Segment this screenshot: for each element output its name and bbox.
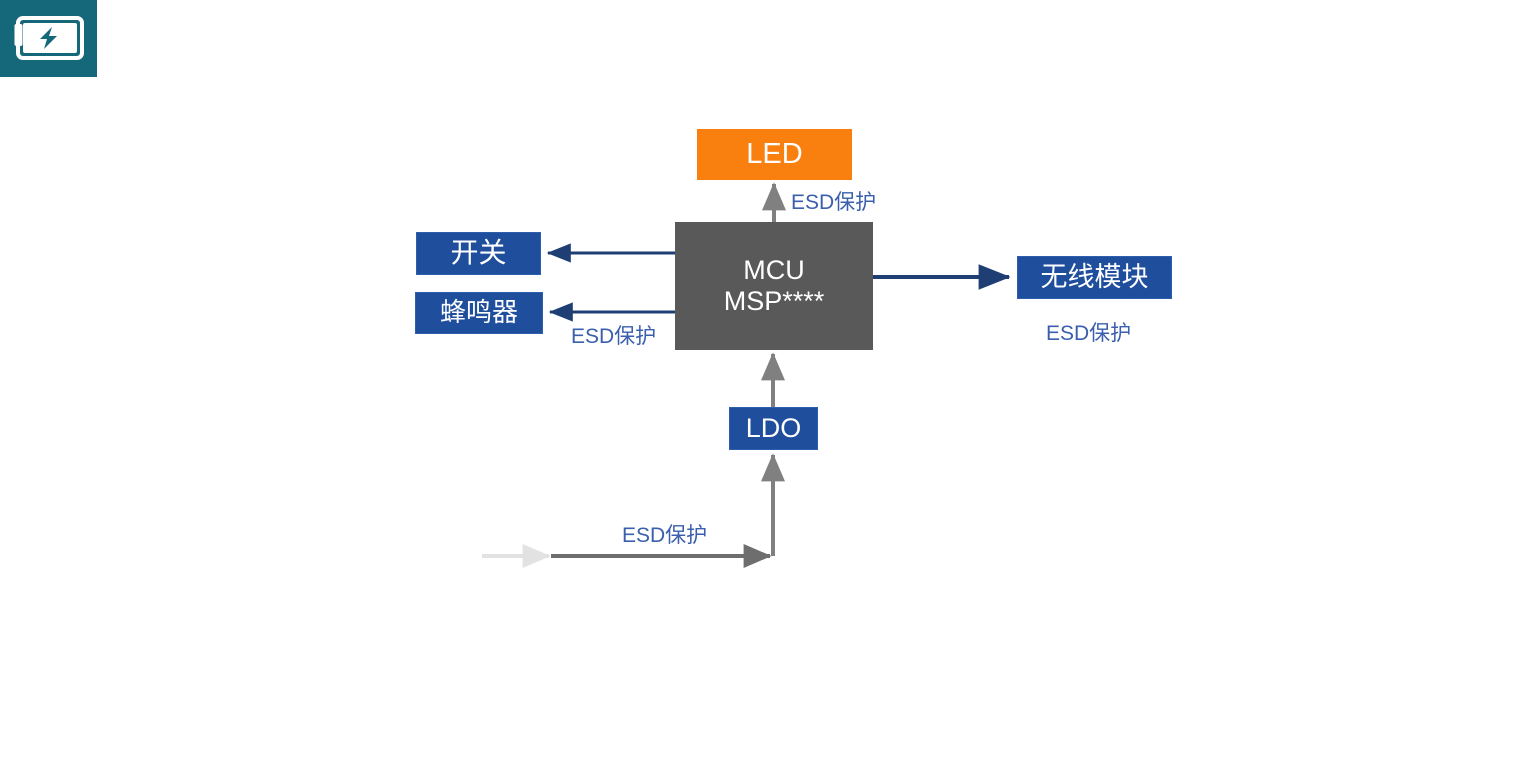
node-led[interactable]: LED bbox=[697, 129, 852, 180]
node-switch-label: 开关 bbox=[450, 237, 506, 269]
node-mcu-label-line1: MCU bbox=[743, 255, 805, 286]
diagram-connector-canvas bbox=[0, 0, 1520, 763]
node-wireless-module[interactable]: 无线模块 bbox=[1017, 256, 1172, 299]
label-esd-left: ESD保护 bbox=[571, 320, 656, 350]
node-led-label: LED bbox=[746, 138, 802, 171]
node-switch[interactable]: 开关 bbox=[416, 232, 541, 275]
node-ldo-label: LDO bbox=[746, 413, 802, 444]
label-esd-led: ESD保护 bbox=[791, 186, 876, 216]
node-buzzer[interactable]: 蜂鸣器 bbox=[415, 292, 543, 334]
node-mcu[interactable]: MCU MSP**** bbox=[675, 222, 873, 350]
label-esd-wireless: ESD保护 bbox=[1046, 317, 1131, 347]
node-mcu-label-line2: MSP**** bbox=[724, 286, 825, 317]
label-esd-battery: ESD保护 bbox=[622, 519, 707, 549]
node-buzzer-label: 蜂鸣器 bbox=[440, 298, 518, 328]
node-ldo[interactable]: LDO bbox=[729, 407, 818, 450]
node-wireless-module-label: 无线模块 bbox=[1041, 262, 1149, 293]
